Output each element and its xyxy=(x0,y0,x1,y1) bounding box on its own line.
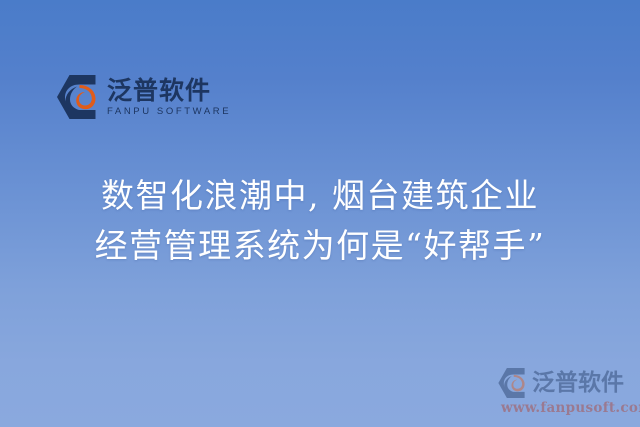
banner-title-line-1: 数智化浪潮中, 烟台建筑企业 xyxy=(0,171,640,221)
watermark-logo-row: 泛普软件 xyxy=(497,367,637,399)
header-logo-wordmark: 泛普软件 FANPU SOFTWARE xyxy=(107,76,231,118)
brand-name-cn: 泛普软件 xyxy=(107,78,231,104)
banner-title-line-2: 经营管理系统为何是“好帮手” xyxy=(0,221,640,271)
header-logo: 泛普软件 FANPU SOFTWARE xyxy=(55,74,231,120)
banner-title: 数智化浪潮中, 烟台建筑企业 经营管理系统为何是“好帮手” xyxy=(0,171,640,271)
watermark: 泛普软件 www.fanpusoft.com xyxy=(497,367,637,416)
watermark-url: www.fanpusoft.com xyxy=(501,400,637,416)
brand-name-en: FANPU SOFTWARE xyxy=(107,107,231,117)
watermark-brand-name: 泛普软件 xyxy=(532,371,624,395)
fanpu-hexagon-swoosh-icon xyxy=(497,367,527,399)
promo-banner: 泛普软件 FANPU SOFTWARE 数智化浪潮中, 烟台建筑企业 经营管理系… xyxy=(0,0,640,427)
fanpu-hexagon-swoosh-icon xyxy=(55,74,99,120)
